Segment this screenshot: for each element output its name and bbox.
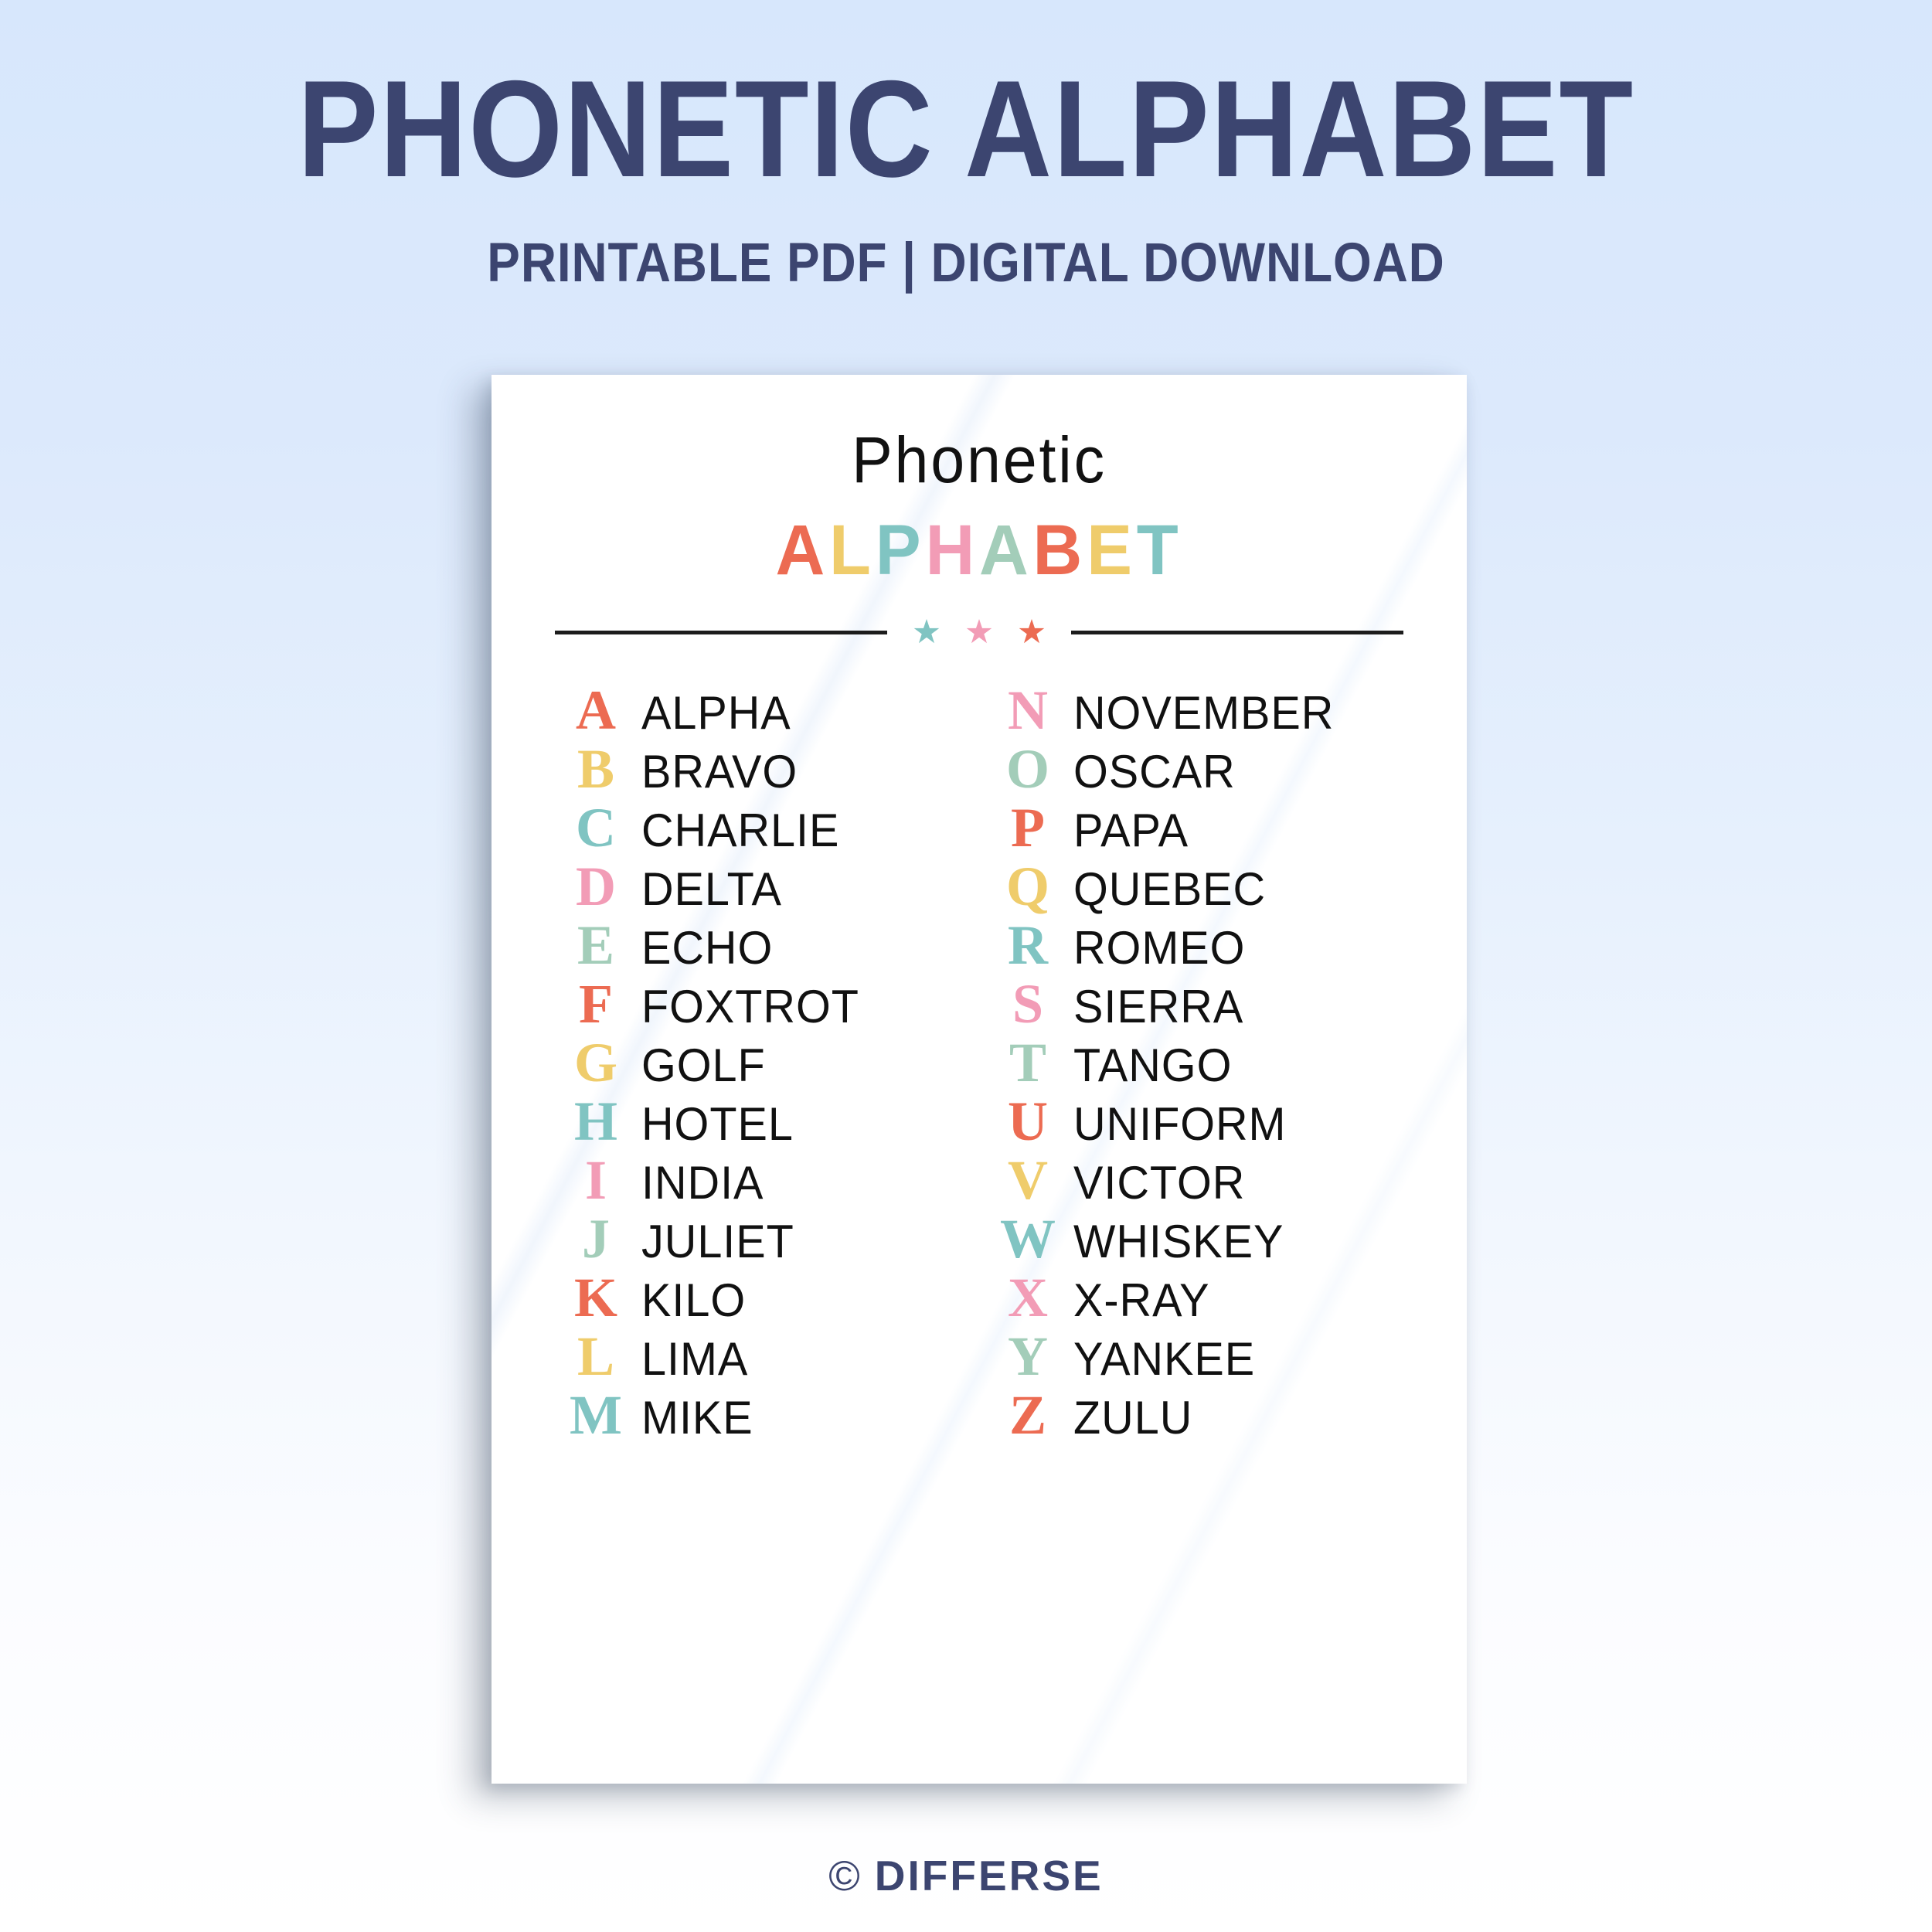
poster-title-letter-a-0: A xyxy=(775,510,829,591)
poster-title-line1: Phonetic xyxy=(564,423,1393,498)
copyright-icon: © xyxy=(828,1852,862,1900)
divider-rule-right xyxy=(1071,631,1403,634)
alphabet-row-s: SSIERRA xyxy=(982,976,1408,1035)
divider-rule-left xyxy=(555,631,887,634)
alphabet-word-g: GOLF xyxy=(641,1039,766,1092)
alphabet-row-b: BBRAVO xyxy=(550,741,976,800)
alphabet-letter-t: T xyxy=(982,1035,1073,1090)
alphabet-row-h: HHOTEL xyxy=(550,1094,976,1152)
alphabet-column-left: AALPHABBRAVOCCHARLIEDDELTAEECHOFFOXTROTG… xyxy=(550,682,976,1446)
alphabet-row-o: OOSCAR xyxy=(982,741,1408,800)
alphabet-table: AALPHABBRAVOCCHARLIEDDELTAEECHOFFOXTROTG… xyxy=(538,682,1420,1446)
alphabet-row-d: DDELTA xyxy=(550,859,976,917)
alphabet-letter-x: X xyxy=(982,1270,1073,1325)
alphabet-letter-q: Q xyxy=(982,859,1073,914)
alphabet-row-k: KKILO xyxy=(550,1270,976,1328)
alphabet-letter-p: P xyxy=(982,800,1073,855)
alphabet-word-e: ECHO xyxy=(641,921,773,975)
alphabet-letter-g: G xyxy=(550,1035,641,1090)
alphabet-letter-w: W xyxy=(982,1211,1073,1267)
alphabet-letter-z: Z xyxy=(982,1387,1073,1443)
alphabet-letter-c: C xyxy=(550,800,641,855)
alphabet-letter-m: M xyxy=(550,1387,641,1443)
page-subtitle: PRINTABLE PDF | DIGITAL DOWNLOAD xyxy=(97,232,1835,294)
alphabet-letter-i: I xyxy=(550,1152,641,1208)
alphabet-letter-a: A xyxy=(550,682,641,738)
alphabet-word-n: NOVEMBER xyxy=(1073,686,1334,740)
poster-preview[interactable]: Phonetic ALPHABET AALPHABBRAVOCCHARLIEDD… xyxy=(492,375,1467,1784)
alphabet-word-z: ZULU xyxy=(1073,1391,1192,1444)
alphabet-letter-y: Y xyxy=(982,1328,1073,1384)
poster-title-letter-t-7: T xyxy=(1137,510,1183,591)
star-pink-icon xyxy=(966,619,992,645)
alphabet-row-c: CCHARLIE xyxy=(550,800,976,859)
alphabet-row-u: UUNIFORM xyxy=(982,1094,1408,1152)
poster-title-letter-e-6: E xyxy=(1087,510,1137,591)
brand-name: DIFFERSE xyxy=(875,1852,1104,1900)
poster-title-letter-b-5: B xyxy=(1033,510,1087,591)
alphabet-word-v: VICTOR xyxy=(1073,1156,1245,1209)
alphabet-word-x: X-RAY xyxy=(1073,1274,1210,1327)
alphabet-word-o: OSCAR xyxy=(1073,745,1236,798)
alphabet-column-right: NNOVEMBEROOSCARPPAPAQQUEBECRROMEOSSIERRA… xyxy=(976,682,1408,1446)
alphabet-row-l: LLIMA xyxy=(550,1328,976,1387)
alphabet-word-b: BRAVO xyxy=(641,745,798,798)
alphabet-row-y: YYANKEE xyxy=(982,1328,1408,1387)
page-header: PHONETIC ALPHABET PRINTABLE PDF | DIGITA… xyxy=(0,0,1932,294)
alphabet-word-u: UNIFORM xyxy=(1073,1097,1286,1151)
alphabet-row-j: JJULIET xyxy=(550,1211,976,1270)
alphabet-row-x: XX-RAY xyxy=(982,1270,1408,1328)
alphabet-word-m: MIKE xyxy=(641,1391,753,1444)
alphabet-letter-b: B xyxy=(550,741,641,797)
alphabet-letter-f: F xyxy=(550,976,641,1032)
alphabet-word-k: KILO xyxy=(641,1274,746,1327)
alphabet-row-t: TTANGO xyxy=(982,1035,1408,1094)
alphabet-letter-u: U xyxy=(982,1094,1073,1149)
alphabet-word-q: QUEBEC xyxy=(1073,862,1266,916)
alphabet-word-y: YANKEE xyxy=(1073,1332,1255,1386)
alphabet-letter-n: N xyxy=(982,682,1073,738)
alphabet-letter-d: D xyxy=(550,859,641,914)
alphabet-letter-s: S xyxy=(982,976,1073,1032)
page-title: PHONETIC ALPHABET xyxy=(116,60,1816,198)
poster-title-letter-h-3: H xyxy=(925,510,979,591)
alphabet-letter-l: L xyxy=(550,1328,641,1384)
divider-stars xyxy=(887,619,1071,645)
alphabet-word-a: ALPHA xyxy=(641,686,791,740)
alphabet-word-p: PAPA xyxy=(1073,804,1189,857)
alphabet-word-s: SIERRA xyxy=(1073,980,1243,1033)
alphabet-word-d: DELTA xyxy=(641,862,782,916)
alphabet-row-q: QQUEBEC xyxy=(982,859,1408,917)
alphabet-letter-j: J xyxy=(550,1211,641,1267)
poster-card: Phonetic ALPHABET AALPHABBRAVOCCHARLIEDD… xyxy=(492,375,1467,1784)
alphabet-row-v: VVICTOR xyxy=(982,1152,1408,1211)
alphabet-row-r: RROMEO xyxy=(982,917,1408,976)
alphabet-word-w: WHISKEY xyxy=(1073,1215,1284,1268)
alphabet-row-z: ZZULU xyxy=(982,1387,1408,1446)
alphabet-row-m: MMIKE xyxy=(550,1387,976,1446)
alphabet-letter-r: R xyxy=(982,917,1073,973)
alphabet-row-a: AALPHA xyxy=(550,682,976,741)
alphabet-letter-h: H xyxy=(550,1094,641,1149)
divider xyxy=(538,619,1420,645)
alphabet-row-i: IINDIA xyxy=(550,1152,976,1211)
alphabet-row-w: WWHISKEY xyxy=(982,1211,1408,1270)
alphabet-word-l: LIMA xyxy=(641,1332,748,1386)
alphabet-word-i: INDIA xyxy=(641,1156,764,1209)
alphabet-word-f: FOXTROT xyxy=(641,980,859,1033)
alphabet-row-e: EECHO xyxy=(550,917,976,976)
alphabet-row-g: GGOLF xyxy=(550,1035,976,1094)
alphabet-letter-e: E xyxy=(550,917,641,973)
alphabet-letter-v: V xyxy=(982,1152,1073,1208)
footer-credit: ©DIFFERSE xyxy=(0,1851,1932,1900)
alphabet-letter-k: K xyxy=(550,1270,641,1325)
alphabet-word-c: CHARLIE xyxy=(641,804,839,857)
poster-title-letter-l-1: L xyxy=(829,510,876,591)
alphabet-word-j: JULIET xyxy=(641,1215,794,1268)
alphabet-word-h: HOTEL xyxy=(641,1097,794,1151)
alphabet-word-r: ROMEO xyxy=(1073,921,1245,975)
poster-title-letter-p-2: P xyxy=(876,510,926,591)
alphabet-word-t: TANGO xyxy=(1073,1039,1232,1092)
alphabet-row-p: PPAPA xyxy=(982,800,1408,859)
alphabet-row-f: FFOXTROT xyxy=(550,976,976,1035)
poster-title-letter-a-4: A xyxy=(979,510,1033,591)
alphabet-row-n: NNOVEMBER xyxy=(982,682,1408,741)
star-coral-icon xyxy=(1019,619,1045,645)
alphabet-letter-o: O xyxy=(982,741,1073,797)
star-teal-icon xyxy=(913,619,940,645)
poster-title-line2: ALPHABET xyxy=(556,510,1403,591)
